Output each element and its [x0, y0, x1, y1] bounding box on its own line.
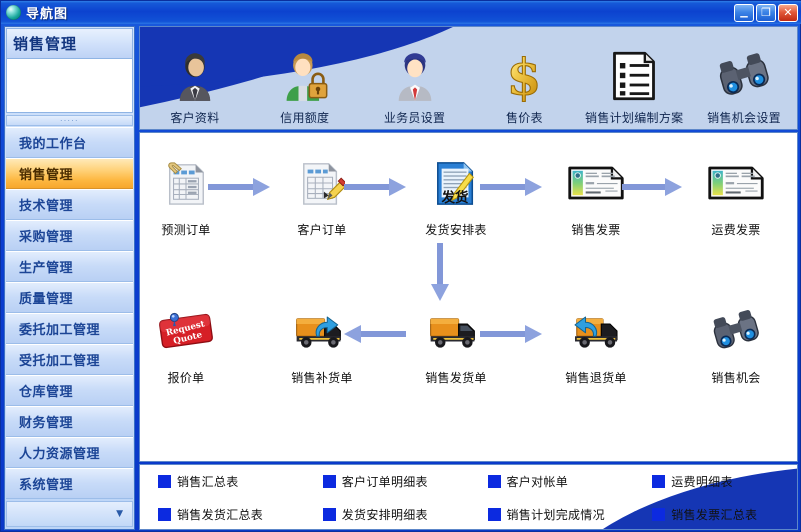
- sidebar-item-label: 销售管理: [19, 164, 73, 183]
- flow-node-7[interactable]: 销售发货单: [408, 303, 504, 386]
- flow-node-icon-wrap: [428, 303, 484, 363]
- flow-node-label: 发货安排表: [425, 221, 487, 238]
- arrow-shaft: [344, 184, 390, 190]
- sidebar-header: 销售管理: [6, 28, 133, 58]
- flow-node-label: 销售发货单: [425, 369, 487, 386]
- svg-text:$: $: [507, 50, 542, 102]
- report-bullet-icon: [158, 475, 171, 488]
- chevron-down-icon: ▼: [116, 510, 123, 519]
- flow-node-icon-wrap: [294, 303, 350, 363]
- svg-text:发货: 发货: [441, 189, 469, 206]
- sidebar-item-7[interactable]: 受托加工管理: [6, 344, 133, 375]
- flow-node-icon-wrap: [299, 155, 345, 215]
- toolbar-items: 客户资料 信用额度 业务员设置 $ 售价表 销售: [140, 27, 798, 130]
- report-link-label: 销售汇总表: [177, 473, 239, 490]
- toolbar-item-0[interactable]: 客户资料: [140, 27, 250, 130]
- close-button[interactable]: ✕: [778, 4, 798, 22]
- toolbar-item-3[interactable]: $ 售价表: [469, 27, 579, 130]
- toolbar-item-4[interactable]: 销售计划编制方案: [579, 27, 689, 130]
- flow-node-icon-wrap: [706, 155, 766, 215]
- shipping-doc-icon: 发货: [433, 160, 479, 210]
- flow-node-label: 运费发票: [711, 221, 760, 238]
- flow-node-9[interactable]: 销售机会: [688, 303, 784, 386]
- report-link-label: 销售计划完成情况: [507, 506, 605, 523]
- sidebar-item-label: 生产管理: [19, 257, 73, 276]
- sidebar-item-label: 系统管理: [19, 474, 73, 493]
- flow-node-label: 销售退货单: [565, 369, 627, 386]
- flow-node-8[interactable]: 销售退货单: [548, 303, 644, 386]
- report-bullet-icon: [158, 508, 171, 521]
- toolbar-item-label: 业务员设置: [384, 109, 446, 126]
- flow-arrow-h-0: [208, 178, 270, 196]
- arrow-head: [253, 178, 270, 196]
- report-link-2[interactable]: 客户对帐单: [470, 473, 635, 490]
- sidebar-item-3[interactable]: 采购管理: [6, 220, 133, 251]
- sidebar-item-4[interactable]: 生产管理: [6, 251, 133, 282]
- flow-node-icon-wrap: [568, 303, 624, 363]
- toolbar-item-icon-wrap: [279, 48, 331, 106]
- checklist-icon: [608, 50, 660, 106]
- toolbar-item-1[interactable]: 信用额度: [250, 27, 360, 130]
- dollar-sign-icon: $: [498, 50, 550, 106]
- close-glyph: ✕: [779, 5, 797, 21]
- arrow-head: [525, 178, 542, 196]
- sidebar-item-label: 质量管理: [19, 288, 73, 307]
- arrow-shaft: [208, 184, 254, 190]
- report-bullet-icon: [488, 508, 501, 521]
- arrow-head: [431, 284, 449, 301]
- flow-arrow-h-1: [344, 178, 406, 196]
- toolbar-item-label: 销售计划编制方案: [585, 109, 683, 126]
- sidebar-item-label: 财务管理: [19, 412, 73, 431]
- sidebar-header-title: 销售管理: [13, 33, 77, 54]
- flow-node-3[interactable]: 销售发票: [548, 155, 644, 238]
- toolbar-item-label: 销售机会设置: [707, 109, 781, 126]
- toolbar-item-icon-wrap: $: [498, 48, 550, 106]
- flow-arrow-v-0: [431, 243, 449, 301]
- flow-node-icon-wrap: [566, 155, 626, 215]
- minimize-glyph: _: [735, 5, 753, 21]
- flow-node-label: 预测订单: [161, 221, 210, 238]
- sidebar-item-label: 仓库管理: [19, 381, 73, 400]
- flow-node-2[interactable]: 发货 发货安排表: [408, 155, 504, 238]
- businessman-icon: [169, 50, 221, 106]
- sidebar-item-6[interactable]: 委托加工管理: [6, 313, 133, 344]
- request-quote-icon: Request Quote: [157, 302, 215, 364]
- flow-diagram: 预测订单 客户订单 发货 发货安排表: [139, 132, 798, 462]
- sidebar-scroll-down[interactable]: ▼: [6, 501, 133, 527]
- report-link-5[interactable]: 发货安排明细表: [305, 506, 470, 523]
- report-link-4[interactable]: 销售发货汇总表: [140, 506, 305, 523]
- flow-node-label: 销售机会: [711, 369, 760, 386]
- window-title: 导航图: [26, 3, 734, 22]
- order-pencil-icon: [299, 160, 345, 210]
- report-link-label: 运费明细表: [671, 473, 733, 490]
- sidebar-item-label: 人力资源管理: [19, 443, 100, 462]
- window-controls: _ ❐ ✕: [734, 4, 798, 22]
- flow-arrow-h-4: [344, 325, 406, 343]
- arrow-shaft: [437, 243, 443, 287]
- flow-arrow-h-2: [480, 178, 542, 196]
- flow-node-5[interactable]: Request Quote 报价单: [139, 303, 234, 386]
- toolbar: 客户资料 信用额度 业务员设置 $ 售价表 销售: [139, 26, 798, 130]
- minimize-button[interactable]: _: [734, 4, 754, 22]
- flow-arrow-h-5: [480, 325, 542, 343]
- sidebar-item-5[interactable]: 质量管理: [6, 282, 133, 313]
- toolbar-item-label: 客户资料: [170, 109, 219, 126]
- toolbar-item-label: 售价表: [506, 109, 543, 126]
- arrow-shaft: [360, 331, 406, 337]
- sidebar-item-label: 我的工作台: [19, 133, 87, 152]
- splitter-dots-icon: ·····: [60, 118, 79, 124]
- report-link-7[interactable]: 销售发票汇总表: [634, 506, 798, 523]
- report-link-1[interactable]: 客户订单明细表: [305, 473, 470, 490]
- binoculars-icon: [712, 307, 760, 359]
- report-link-label: 发货安排明细表: [342, 506, 428, 523]
- arrow-shaft: [480, 331, 526, 337]
- flow-arrow-h-3: [622, 178, 682, 196]
- sidebar-item-9[interactable]: 财务管理: [6, 406, 133, 437]
- report-link-label: 销售发货汇总表: [177, 506, 263, 523]
- toolbar-item-icon-wrap: [169, 48, 221, 106]
- sidebar-splitter[interactable]: ·····: [6, 115, 133, 126]
- maximize-glyph: ❐: [757, 5, 775, 21]
- toolbar-item-icon-wrap: [608, 48, 660, 106]
- flow-node-label: 客户订单: [297, 221, 346, 238]
- application-window: 导航图 _ ❐ ✕ 销售管理 ····· 我的工作台销售管理技术管理采购管理生产…: [0, 0, 801, 532]
- sidebar-item-label: 受托加工管理: [19, 350, 100, 369]
- toolbar-item-5[interactable]: 销售机会设置: [689, 27, 798, 130]
- title-bar: 导航图 _ ❐ ✕: [1, 1, 801, 24]
- report-link-3[interactable]: 运费明细表: [634, 473, 798, 490]
- globe-icon: [6, 5, 21, 20]
- report-bullet-icon: [323, 475, 336, 488]
- sidebar-item-label: 采购管理: [19, 226, 73, 245]
- sidebar-blank-panel: [6, 58, 133, 113]
- sidebar-item-11[interactable]: 系统管理: [6, 468, 133, 499]
- reports-grid: 销售汇总表客户订单明细表客户对帐单运费明细表销售发货汇总表发货安排明细表销售计划…: [140, 465, 798, 530]
- truck-icon: [428, 303, 484, 363]
- arrow-head: [665, 178, 682, 196]
- toolbar-item-icon-wrap: [718, 48, 770, 106]
- sidebar-item-1[interactable]: 销售管理: [6, 158, 133, 189]
- arrow-head: [525, 325, 542, 343]
- flow-node-label: 报价单: [168, 369, 205, 386]
- report-bullet-icon: [652, 508, 665, 521]
- report-bullet-icon: [652, 475, 665, 488]
- report-link-label: 销售发票汇总表: [671, 506, 757, 523]
- report-link-6[interactable]: 销售计划完成情况: [470, 506, 635, 523]
- arrow-head: [344, 325, 361, 343]
- report-link-label: 客户对帐单: [507, 473, 569, 490]
- flow-node-icon-wrap: 发货: [433, 155, 479, 215]
- flow-node-icon-wrap: [712, 303, 760, 363]
- flow-node-4[interactable]: 运费发票: [688, 155, 784, 238]
- arrow-shaft: [622, 184, 666, 190]
- toolbar-item-2[interactable]: 业务员设置: [360, 27, 470, 130]
- sidebar-item-list: 我的工作台销售管理技术管理采购管理生产管理质量管理委托加工管理受托加工管理仓库管…: [5, 127, 134, 499]
- invoice-check-icon: [706, 153, 766, 217]
- sidebar-item-label: 委托加工管理: [19, 319, 100, 338]
- sidebar-item-10[interactable]: 人力资源管理: [6, 437, 133, 468]
- sidebar-item-0[interactable]: 我的工作台: [6, 127, 133, 158]
- toolbar-item-icon-wrap: [389, 48, 441, 106]
- clipboard-table-icon: [163, 160, 209, 210]
- flow-node-icon-wrap: Request Quote: [157, 303, 215, 363]
- invoice-check-icon: [566, 153, 626, 217]
- user-lock-icon: [279, 50, 331, 106]
- reports-panel: 销售汇总表客户订单明细表客户对帐单运费明细表销售发货汇总表发货安排明细表销售计划…: [139, 464, 798, 530]
- flow-node-6[interactable]: 销售补货单: [274, 303, 370, 386]
- flow-node-label: 销售补货单: [291, 369, 353, 386]
- flow-node-icon-wrap: [163, 155, 209, 215]
- main-content: 客户资料 信用额度 业务员设置 $ 售价表 销售: [139, 26, 798, 530]
- flow-node-label: 销售发票: [571, 221, 620, 238]
- flow-node-0[interactable]: 预测订单: [139, 155, 234, 238]
- salesman-icon: [389, 50, 441, 106]
- arrow-head: [389, 178, 406, 196]
- toolbar-item-label: 信用额度: [280, 109, 329, 126]
- truck-replenish-icon: [294, 303, 350, 363]
- report-link-0[interactable]: 销售汇总表: [140, 473, 305, 490]
- sidebar-item-2[interactable]: 技术管理: [6, 189, 133, 220]
- maximize-button[interactable]: ❐: [756, 4, 776, 22]
- binoculars-icon: [718, 50, 770, 106]
- sidebar-item-8[interactable]: 仓库管理: [6, 375, 133, 406]
- arrow-shaft: [480, 184, 526, 190]
- truck-return-icon: [568, 303, 624, 363]
- report-bullet-icon: [323, 508, 336, 521]
- report-bullet-icon: [488, 475, 501, 488]
- flow-node-1[interactable]: 客户订单: [274, 155, 370, 238]
- sidebar-item-label: 技术管理: [19, 195, 73, 214]
- report-link-label: 客户订单明细表: [342, 473, 428, 490]
- sidebar: 销售管理 ····· 我的工作台销售管理技术管理采购管理生产管理质量管理委托加工…: [4, 26, 135, 530]
